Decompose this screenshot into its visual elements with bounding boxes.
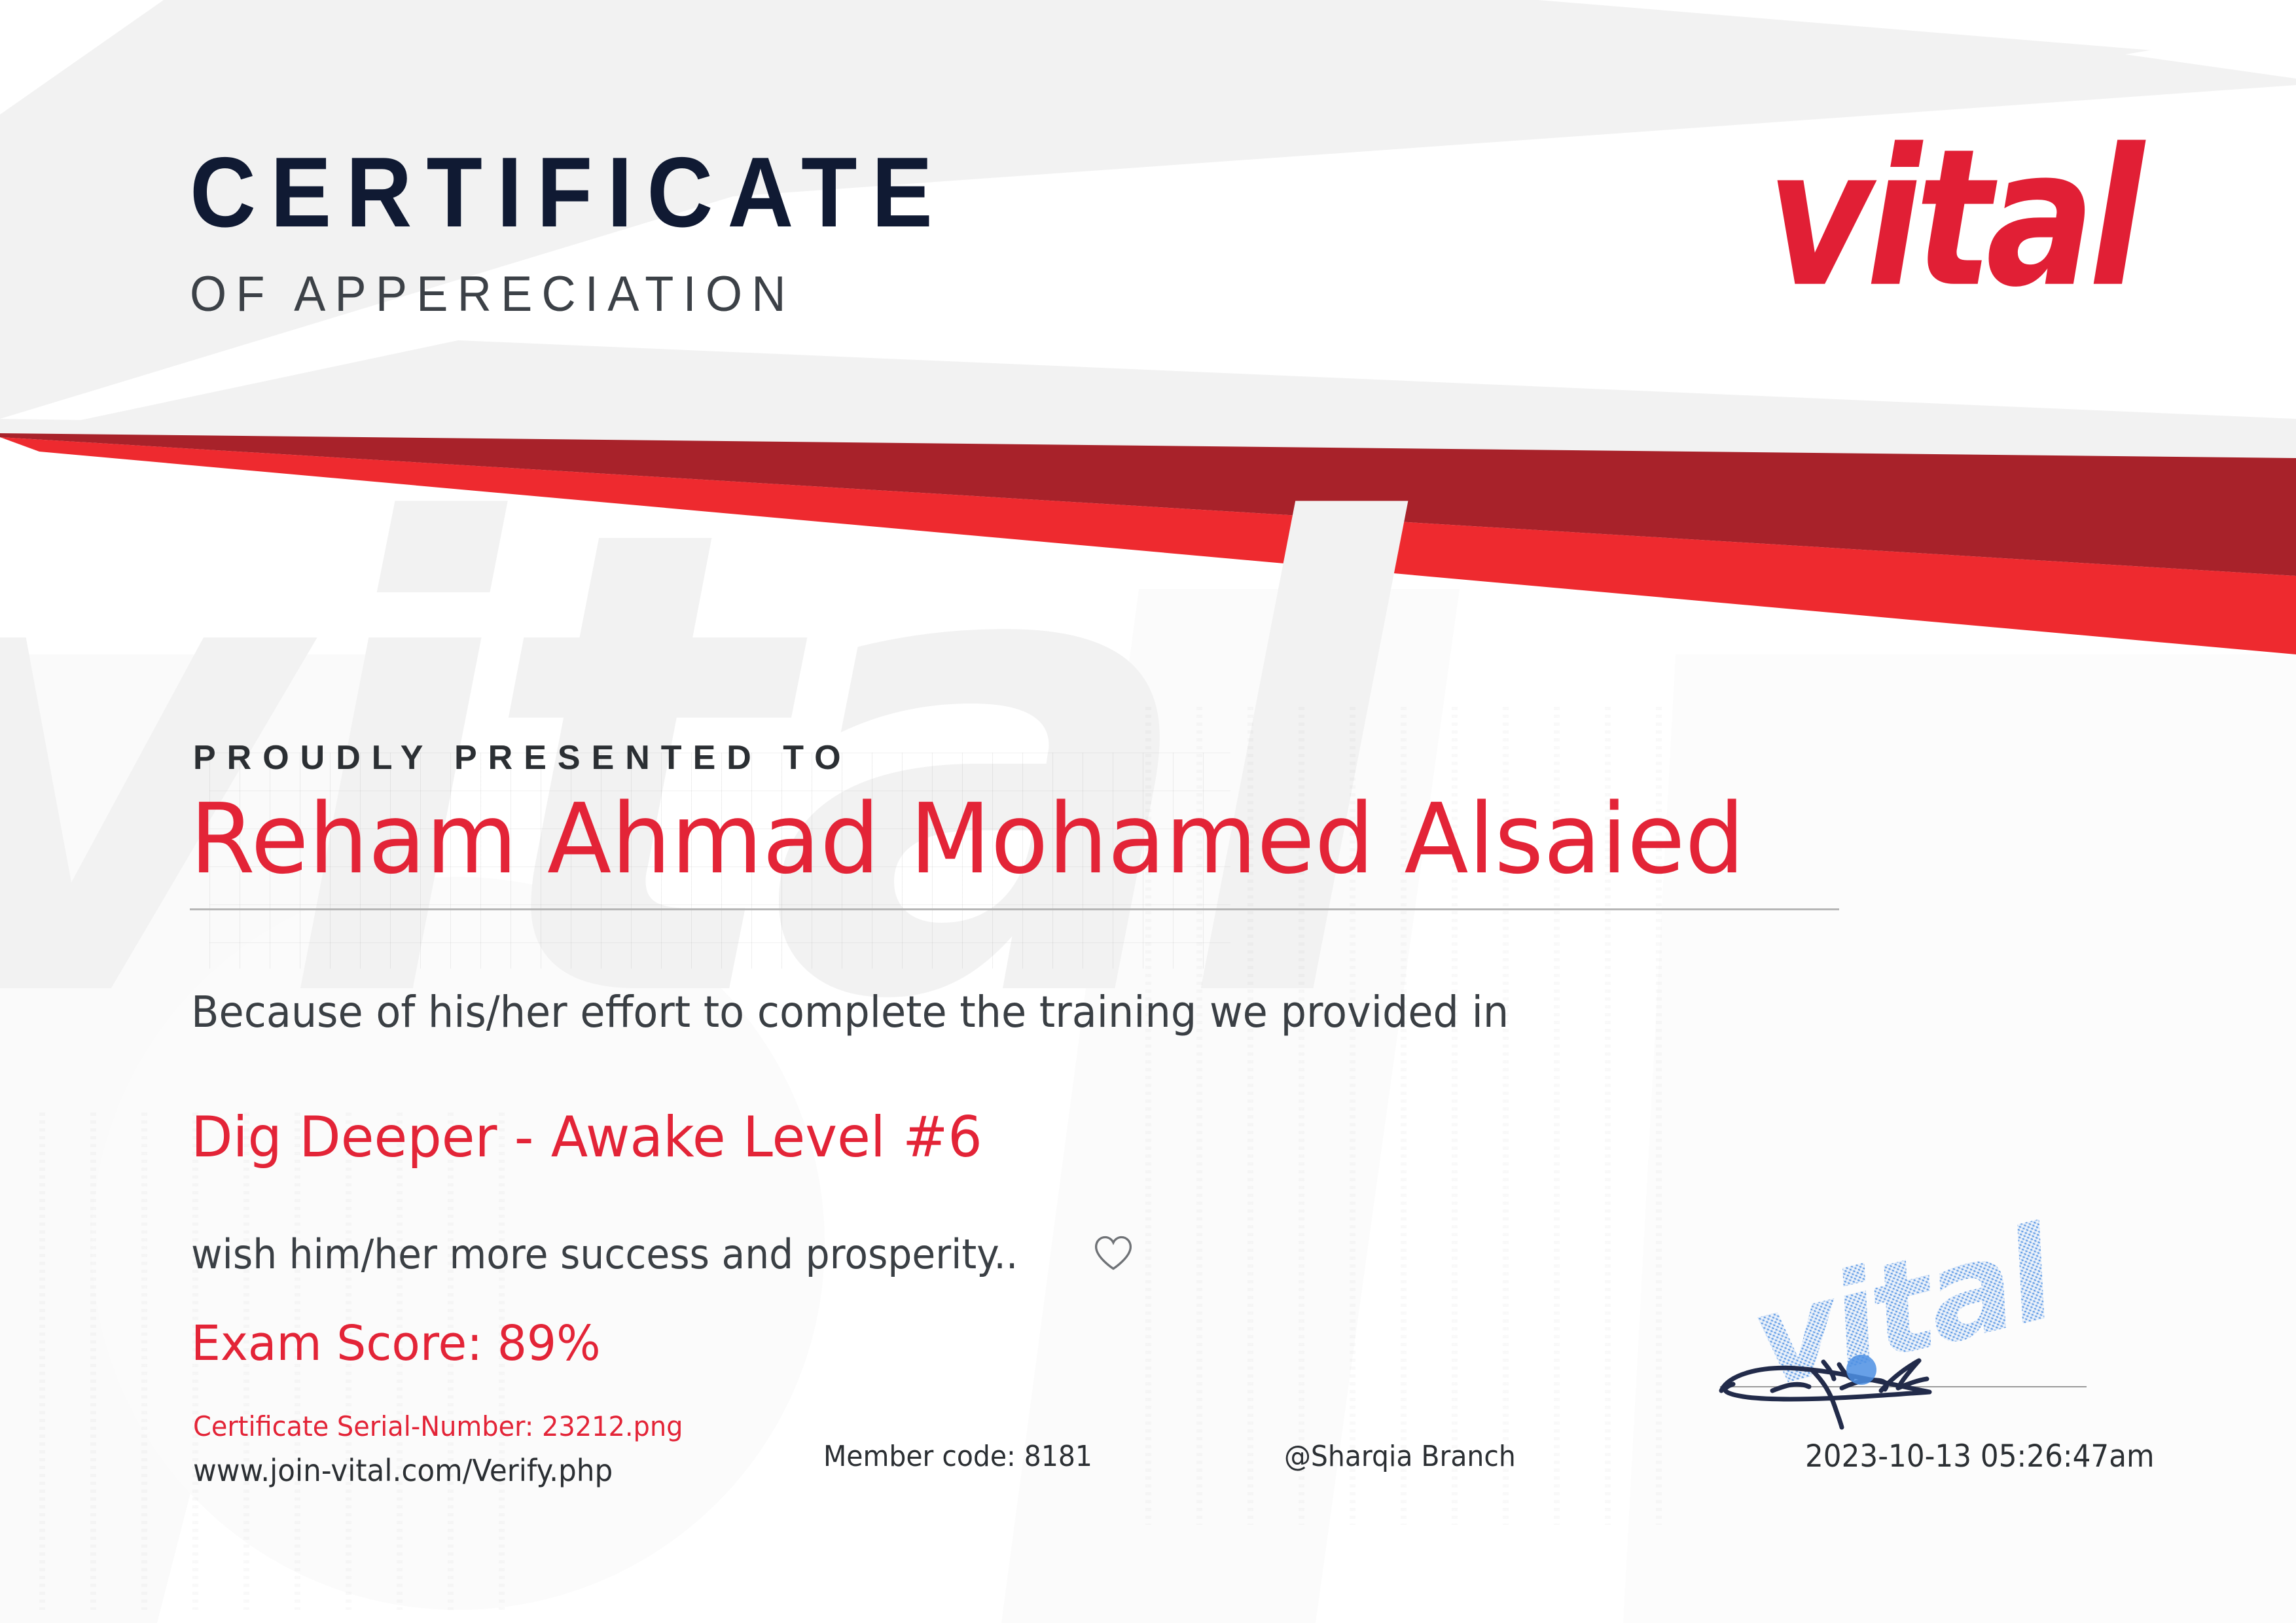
handwritten-signature-icon [1713,1293,2080,1443]
header-title-block: CERTIFICATE OF APPERECIATION [190,143,1013,319]
vital-logo: vital [1767,124,2134,288]
reason-line: Because of his/her effort to complete th… [191,987,1509,1037]
header-light-band [0,340,2296,458]
exam-score: Exam Score: 89% [191,1315,601,1372]
banner-bright-red [0,437,2296,654]
certificate-subtitle: OF APPERECIATION [190,270,972,319]
certificate-serial-number: Certificate Serial-Number: 23212.png [193,1410,683,1442]
member-code: Member code: 8181 [823,1440,1092,1473]
wish-line: wish him/her more success and prosperity… [191,1230,1018,1278]
verify-url[interactable]: www.join-vital.com/Verify.php [193,1453,613,1488]
name-underline-rule [190,908,1839,910]
certificate-title: CERTIFICATE [190,143,947,242]
heart-outline-icon [1093,1234,1134,1275]
proudly-presented-to-label: PROUDLY PRESENTED TO [193,738,852,777]
header-white-wedge-2 [1538,0,2296,62]
vital-logo-text: vital [1767,124,2126,314]
course-name: Dig Deeper - Awake Level #6 [191,1105,982,1170]
wish-row: wish him/her more success and prosperity… [191,1230,1134,1278]
recipient-name: Reham Ahmad Mohamed Alsaied [190,791,1745,887]
header-white-notch [0,0,164,115]
branch-name: @Sharqia Branch [1284,1440,1516,1473]
certificate-page: vital CERTIFICATE OF APPERECIATION vital… [0,0,2296,1623]
issued-date: 2023-10-13 05:26:47am [1805,1438,2155,1474]
banner-dark-red [0,433,2296,576]
